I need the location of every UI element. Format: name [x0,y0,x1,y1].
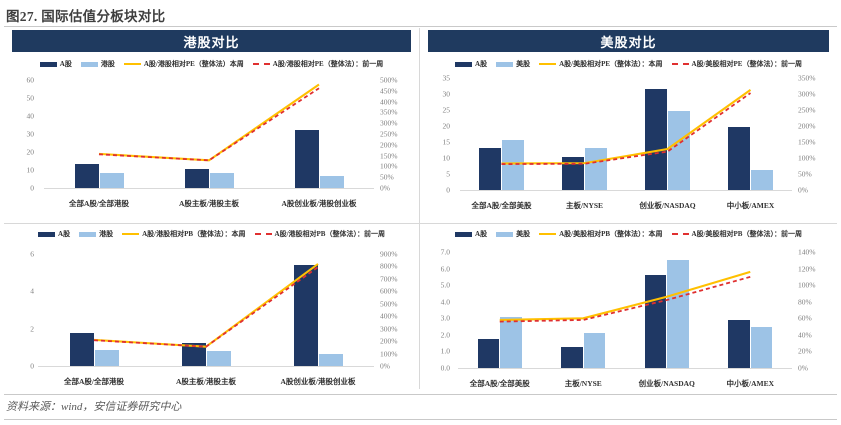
axis-tick-right: 400% [380,97,398,106]
category-label: 全部A股/全部港股 [44,198,154,209]
legend-item-line-current: A股/美股相对PE（整体法）：本周 [539,59,662,69]
panel-us-pb: A股 美股 A股/美股相对PB（整体法）：本周 A股/美股相对PB（整体法）：前… [420,224,837,389]
axis-tick-left: 0 [30,184,34,193]
left-axis-hk-pe: 0102030405060 [4,80,38,188]
axis-tick-left: 0 [30,362,34,371]
category-label: 中小板/AMEX [709,200,792,211]
axis-tick-left: 30 [443,90,451,99]
legend-item-line-current: A股/美股相对PB（整体法）：本周 [539,229,662,239]
right-axis-hk-pb: 0%100%200%300%400%500%600%700%800%900% [380,254,414,366]
legend-item-a: A股 [38,229,70,239]
line-previous-week [502,93,751,164]
category-label: 全部A股/全部港股 [38,376,150,387]
legend-label-line-previous: A股/美股相对PE（整体法）：前一周 [692,59,802,69]
legend-swatch-bar-a [455,62,472,67]
axis-tick-left: 25 [443,106,451,115]
axis-tick-right: 600% [380,287,398,296]
legend-label-line-current: A股/港股相对PB（整体法）：本周 [142,229,245,239]
category-label: 主板/NYSE [543,200,626,211]
legend-hk-pb: A股 港股 A股/港股相对PB（整体法）：本周 A股/港股相对PB（整体法）：前… [4,229,419,239]
line-current-week [502,90,751,164]
legend-item-b: 港股 [79,229,113,239]
line-overlay [460,78,792,192]
plot-area-hk-pb: 02460%100%200%300%400%500%600%700%800%90… [4,254,419,389]
axis-tick-right: 200% [380,140,398,149]
axis-tick-left: 5 [446,170,450,179]
axis-tick-right: 40% [798,330,812,339]
category-label: 中小板/AMEX [709,378,793,389]
legend-item-a: A股 [455,229,487,239]
axis-tick-right: 200% [380,337,398,346]
plot-area-hk-pe: 01020304050600%50%100%150%200%250%300%35… [4,80,419,213]
axis-tick-left: 0 [446,186,450,195]
line-current-week [500,272,751,320]
line-overlay [44,80,374,190]
legend-swatch-line-current [124,63,141,65]
axis-tick-right: 150% [380,151,398,160]
legend-label-b: 美股 [516,229,530,239]
axis-tick-right: 200% [798,122,816,131]
legend-label-a: A股 [58,229,70,239]
category-label: A股创业板/港股创业板 [264,198,374,209]
legend-label-line-previous: A股/美股相对PB（整体法）：前一周 [692,229,802,239]
legend-swatch-bar-a [455,232,472,237]
legend-item-line-current: A股/港股相对PB（整体法）：本周 [122,229,245,239]
axis-tick-left: 60 [27,76,35,85]
axis-tick-right: 50% [380,173,394,182]
axis-tick-right: 0% [798,186,808,195]
page-title: 图27. 国际估值分板块对比 [6,5,165,25]
axis-tick-right: 100% [380,349,398,358]
axis-tick-left: 5.0 [441,281,450,290]
axis-tick-right: 350% [380,108,398,117]
axis-tick-left: 3.0 [441,314,450,323]
legend-swatch-bar-a [38,232,55,237]
legend-swatch-line-current [539,233,556,235]
legend-label-line-previous: A股/港股相对PB（整体法）：前一周 [275,229,385,239]
right-axis-hk-pe: 0%50%100%150%200%250%300%350%400%450%500… [380,80,414,188]
axis-tick-left: 4 [30,287,34,296]
line-overlay [458,252,792,370]
legend-swatch-line-previous [672,233,689,235]
source-divider-top [4,394,837,395]
legend-swatch-line-previous [672,63,689,65]
panel-us-pe: 美股对比 A股 美股 A股/美股相对PE（整体法）：本周 A股/美股相对PE（整… [420,28,837,224]
legend-hk-pe: A股 港股 A股/港股相对PE（整体法）本周 A股/港股相对PE（整体法）：前一… [4,59,419,69]
axis-tick-right: 100% [798,154,816,163]
legend-label-line-previous: A股/港股相对PE（整体法）：前一周 [273,59,383,69]
axis-tick-right: 150% [798,138,816,147]
legend-swatch-line-previous [255,233,272,235]
axis-tick-right: 350% [798,74,816,83]
axis-tick-right: 300% [380,324,398,333]
source-note: 资料来源：wind，安信证券研究中心 [6,398,181,414]
legend-label-a: A股 [475,229,487,239]
legend-label-b: 港股 [99,229,113,239]
legend-item-line-current: A股/港股相对PE（整体法）本周 [124,59,244,69]
axis-tick-left: 20 [27,148,35,157]
legend-label-b: 港股 [101,59,115,69]
figure-page: 图27. 国际估值分板块对比 港股对比 A股 港股 A股/港股相对PE（整体法）… [0,0,841,425]
legend-swatch-line-current [122,233,139,235]
axis-tick-left: 2.0 [441,330,450,339]
plot-area-us-pb: 0.01.02.03.04.05.06.07.00%20%40%60%80%10… [420,252,837,389]
legend-item-b: 美股 [496,59,530,69]
legend-swatch-line-previous [253,63,270,65]
axis-tick-left: 1.0 [441,347,450,356]
legend-item-a: A股 [40,59,72,69]
legend-label-b: 美股 [516,59,530,69]
axis-tick-left: 30 [27,130,35,139]
axis-tick-right: 500% [380,76,398,85]
legend-item-a: A股 [455,59,487,69]
category-label: A股主板/港股主板 [154,198,264,209]
axis-tick-right: 250% [798,106,816,115]
axis-tick-left: 0.0 [441,364,450,373]
category-label: 创业板/NASDAQ [626,200,709,211]
axis-tick-right: 0% [380,362,390,371]
axis-tick-right: 100% [798,281,816,290]
panel-header-hk-pe: 港股对比 [12,30,411,52]
legend-label-line-current: A股/美股相对PE（整体法）：本周 [559,59,662,69]
axis-tick-right: 100% [380,162,398,171]
axis-tick-right: 140% [798,248,816,257]
axis-tick-right: 800% [380,262,398,271]
axis-tick-right: 60% [798,314,812,323]
legend-label-line-current: A股/美股相对PB（整体法）：本周 [559,229,662,239]
legend-swatch-bar-a [40,62,57,67]
legend-label-a: A股 [60,59,72,69]
panel-hk-pb: A股 港股 A股/港股相对PB（整体法）：本周 A股/港股相对PB（整体法）：前… [4,224,420,389]
legend-swatch-bar-b [79,232,96,237]
right-axis-us-pe: 0%50%100%150%200%250%300%350% [798,78,832,190]
legend-label-line-current: A股/港股相对PE（整体法）本周 [144,59,244,69]
legend-item-line-previous: A股/港股相对PB（整体法）：前一周 [255,229,385,239]
category-label: 主板/NYSE [542,378,626,389]
axis-tick-right: 500% [380,299,398,308]
axis-tick-right: 120% [798,264,816,273]
legend-item-line-previous: A股/美股相对PB（整体法）：前一周 [672,229,802,239]
left-axis-hk-pb: 0246 [4,254,38,366]
axis-tick-right: 450% [380,86,398,95]
axis-tick-right: 700% [380,274,398,283]
axis-tick-left: 50 [27,94,35,103]
axis-tick-left: 40 [27,112,35,121]
legend-item-line-previous: A股/港股相对PE（整体法）：前一周 [253,59,383,69]
axis-tick-right: 900% [380,250,398,259]
line-current-week [99,85,319,161]
right-axis-us-pb: 0%20%40%60%80%100%120%140% [798,252,832,368]
legend-item-b: 港股 [81,59,115,69]
legend-swatch-line-current [539,63,556,65]
category-label: 全部A股/全部美股 [460,200,543,211]
legend-us-pe: A股 美股 A股/美股相对PE（整体法）：本周 A股/美股相对PE（整体法）：前… [420,59,837,69]
legend-swatch-bar-b [496,232,513,237]
category-label: 全部A股/全部美股 [458,378,542,389]
axis-tick-right: 250% [380,130,398,139]
charts-grid: 港股对比 A股 港股 A股/港股相对PE（整体法）本周 A股/港股相对PE（整体… [4,28,837,389]
title-divider [4,26,837,27]
axis-tick-left: 15 [443,138,451,147]
axis-tick-left: 2 [30,324,34,333]
axis-tick-right: 20% [798,347,812,356]
axis-tick-right: 300% [380,119,398,128]
legend-swatch-bar-b [496,62,513,67]
legend-us-pb: A股 美股 A股/美股相对PB（整体法）：本周 A股/美股相对PB（整体法）：前… [420,229,837,239]
axis-tick-left: 6.0 [441,264,450,273]
panel-hk-pe: 港股对比 A股 港股 A股/港股相对PE（整体法）本周 A股/港股相对PE（整体… [4,28,420,224]
axis-tick-right: 400% [380,312,398,321]
axis-tick-right: 50% [798,170,812,179]
axis-tick-right: 0% [380,184,390,193]
line-previous-week [94,267,318,347]
source-divider-bottom [4,419,837,420]
legend-label-a: A股 [475,59,487,69]
panel-header-us-pe: 美股对比 [428,30,829,52]
axis-tick-left: 35 [443,74,451,83]
line-current-week [94,264,318,347]
legend-item-line-previous: A股/美股相对PE（整体法）：前一周 [672,59,802,69]
left-axis-us-pe: 05101520253035 [420,78,454,190]
plot-area-us-pe: 051015202530350%50%100%150%200%250%300%3… [420,78,837,215]
axis-tick-left: 6 [30,250,34,259]
line-previous-week [99,88,319,160]
axis-tick-right: 300% [798,90,816,99]
axis-tick-right: 0% [798,364,808,373]
line-overlay [38,254,374,368]
legend-item-b: 美股 [496,229,530,239]
axis-tick-left: 20 [443,122,451,131]
category-label: A股创业板/港股创业板 [262,376,374,387]
axis-tick-right: 80% [798,297,812,306]
legend-swatch-bar-b [81,62,98,67]
axis-tick-left: 4.0 [441,297,450,306]
left-axis-us-pb: 0.01.02.03.04.05.06.07.0 [420,252,454,368]
category-label: 创业板/NASDAQ [625,378,709,389]
category-label: A股主板/港股主板 [150,376,262,387]
axis-tick-left: 7.0 [441,248,450,257]
axis-tick-left: 10 [443,154,451,163]
axis-tick-left: 10 [27,166,35,175]
